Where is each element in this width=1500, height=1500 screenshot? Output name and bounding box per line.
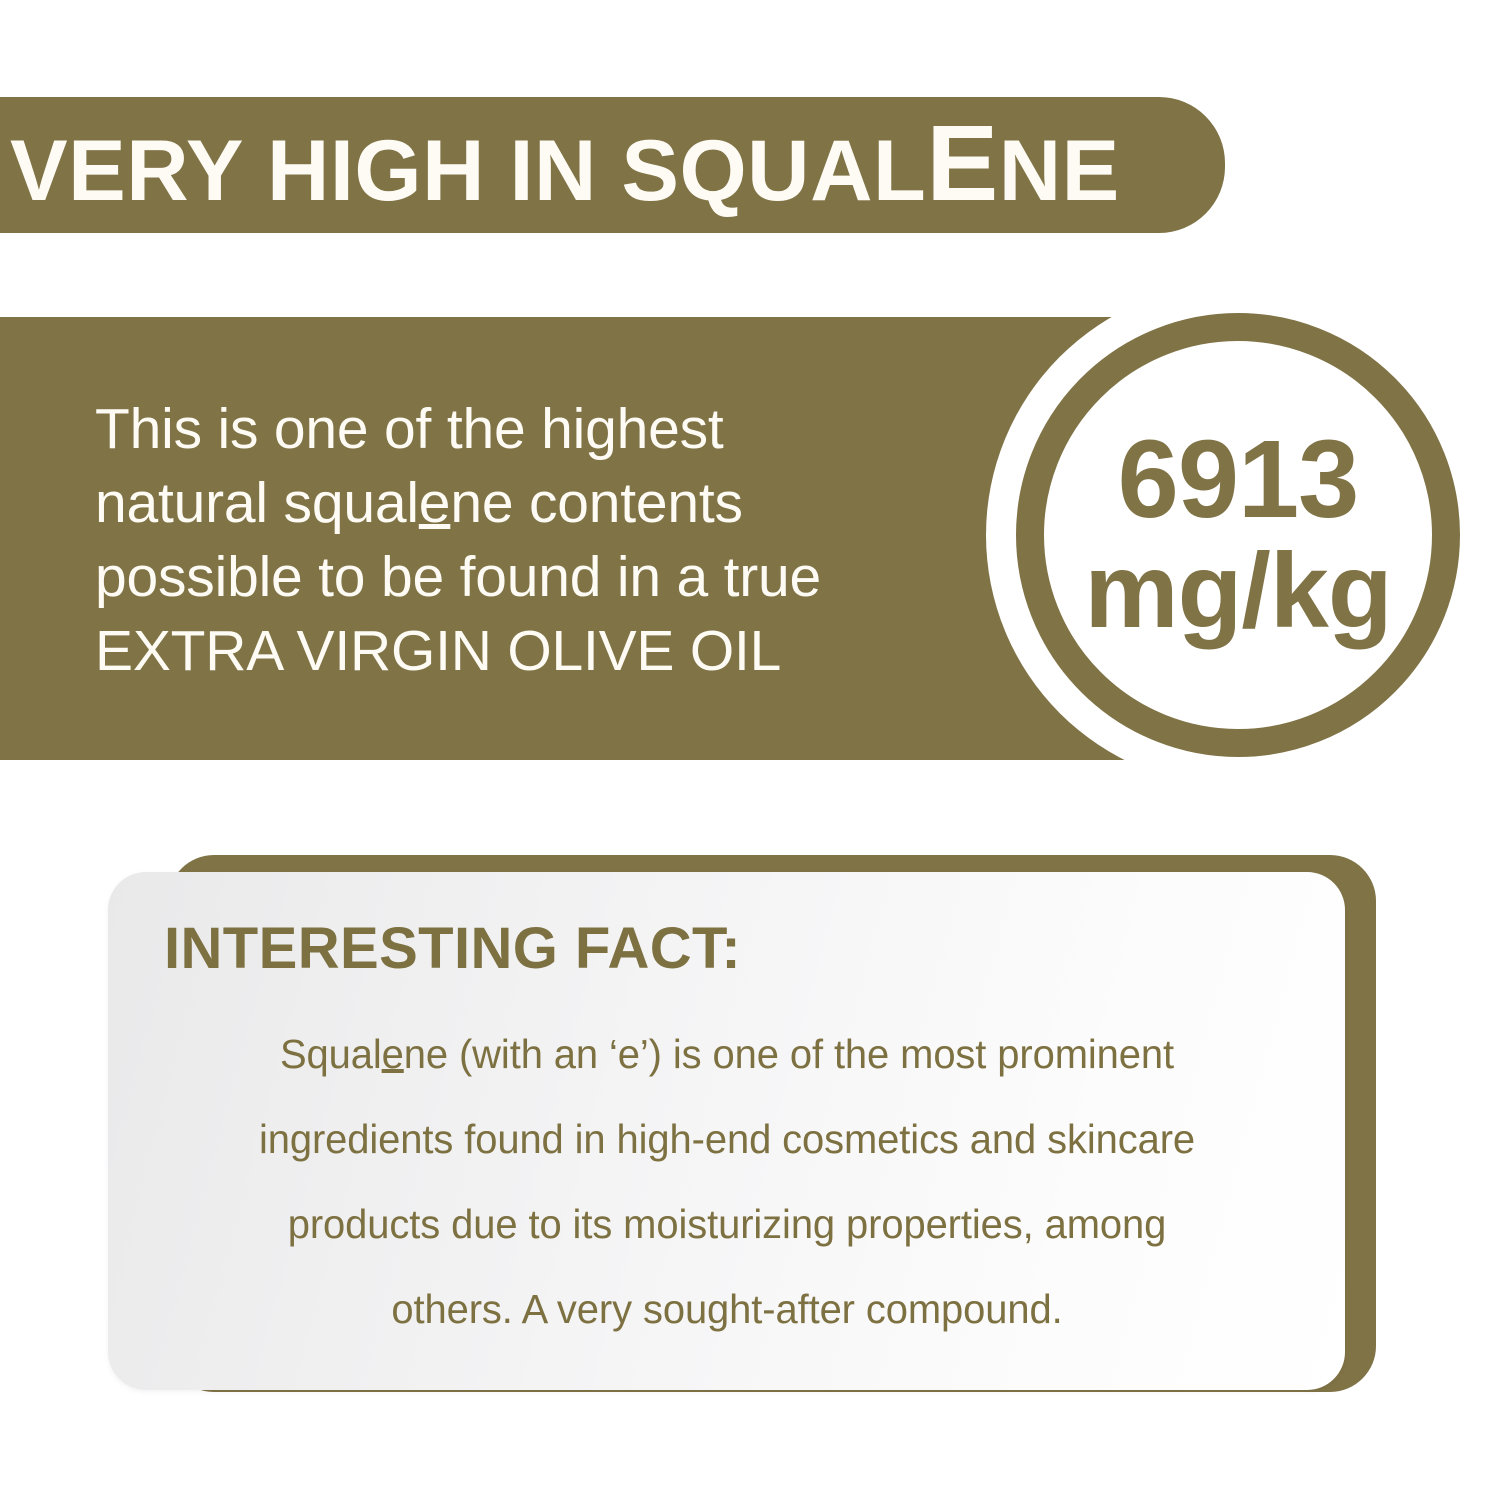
badge-value: 6913 <box>1118 424 1359 536</box>
headline-banner: VERY HIGH IN SQUALENE <box>0 97 1225 233</box>
squalene-value-badge: 6913 mg/kg <box>1016 313 1460 757</box>
fact-card-body: Squalene (with an ‘e’) is one of the mos… <box>152 1012 1302 1351</box>
infographic-stage: VERY HIGH IN SQUALENE This is one of the… <box>0 0 1500 1500</box>
fact-line-2: ingredients found in high-end cosmetics … <box>167 1097 1287 1182</box>
fact-card-heading: INTERESTING FACT: <box>164 920 741 978</box>
fact-line-1-underlined-e: e <box>382 1031 404 1077</box>
main-line-2-post: ne contents <box>450 471 743 535</box>
fact-line-4: others. A very sought-after compound. <box>167 1267 1287 1352</box>
main-line-4: EXTRA VIRGIN OLIVE OIL <box>95 614 935 688</box>
headline-text: VERY HIGH IN SQUALENE <box>10 109 1120 217</box>
fact-line-1: Squalene (with an ‘e’) is one of the mos… <box>167 1012 1287 1097</box>
main-line-2-underlined-e: e <box>419 471 451 535</box>
main-description-text: This is one of the highest natural squal… <box>95 392 935 688</box>
fact-line-1-post: ne (with an ‘e’) is one of the most prom… <box>404 1031 1174 1077</box>
headline-prefix: VERY HIGH IN SQUAL <box>10 123 926 219</box>
fact-line-1-pre: Squal <box>280 1031 382 1077</box>
headline-suffix: NE <box>999 123 1120 219</box>
headline-big-letter: E <box>926 102 999 223</box>
main-line-2-pre: natural squal <box>95 471 419 535</box>
main-line-3: possible to be found in a true <box>95 540 935 614</box>
main-line-1: This is one of the highest <box>95 392 935 466</box>
fact-line-3: products due to its moisturizing propert… <box>167 1182 1287 1267</box>
main-line-2: natural squalene contents <box>95 466 935 540</box>
fact-card: INTERESTING FACT: Squalene (with an ‘e’)… <box>108 872 1345 1390</box>
badge-unit: mg/kg <box>1084 536 1391 646</box>
